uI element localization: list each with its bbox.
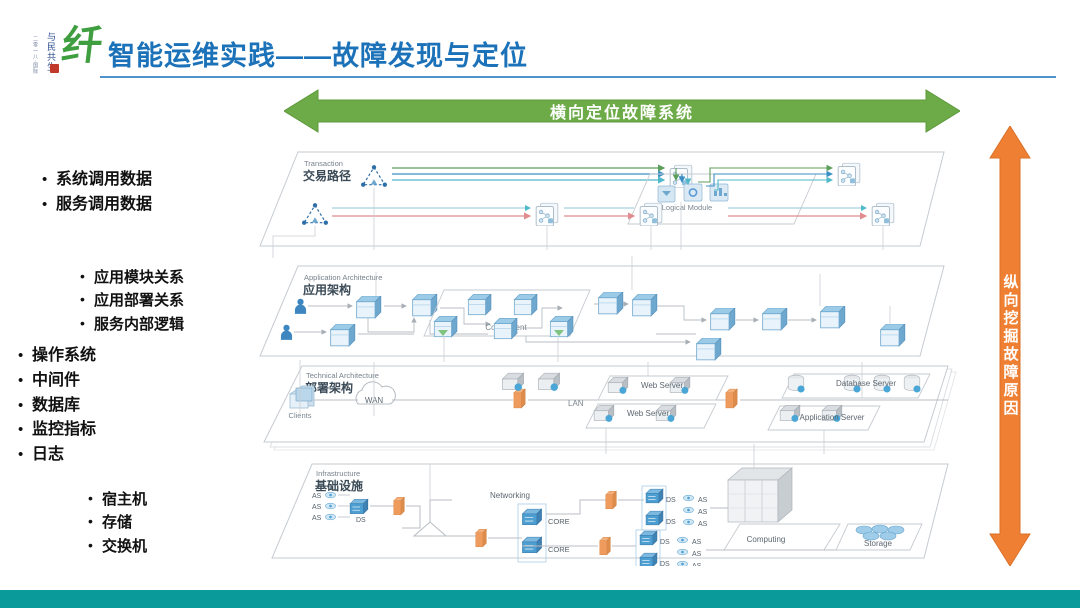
bullet-group-hardware: • 宿主机 • 存储 • 交换机 [88, 488, 147, 558]
server-icon [780, 405, 800, 422]
bullet-text: 宿主机 [102, 488, 147, 511]
database-icon [904, 375, 920, 392]
server-icon [539, 373, 560, 391]
transaction-node-icon [536, 203, 558, 226]
brand-logo: 二零一八·国际 与民共生 纤 [22, 24, 98, 80]
networking-label: Networking [490, 491, 530, 500]
app-component-icon [468, 294, 491, 314]
as-token-icon [325, 503, 335, 509]
vertical-arrow-banner: 纵向挖掘故障原因 [988, 126, 1032, 566]
firewall-icon [394, 497, 405, 515]
as-label: AS [698, 521, 708, 528]
ds-label: DS [666, 519, 676, 526]
server-icon [594, 405, 614, 422]
as-token-icon [683, 507, 693, 513]
switch-icon [350, 499, 368, 513]
bullet-glyph: • [18, 369, 32, 392]
application-server-label: Application Server [800, 413, 865, 422]
bullet-glyph: • [80, 313, 94, 335]
layer-transaction-zh: 交易路径 [303, 168, 351, 183]
app-component-icon [434, 316, 457, 336]
web-server-label-2: Web Server [627, 409, 669, 418]
ds-label: DS [356, 517, 366, 524]
bullet-glyph: • [88, 535, 102, 557]
bullet-glyph: • [18, 344, 32, 367]
ds-label: DS [660, 561, 670, 566]
vertical-arrow-label-wrap: 纵向挖掘故障原因 [988, 126, 1032, 566]
bullet-text: 应用模块关系 [94, 266, 184, 289]
bullet-glyph: • [88, 511, 102, 533]
app-component-icon [550, 316, 573, 336]
horizontal-arrow-banner: 横向定位故障系统 [284, 88, 960, 134]
database-icon [788, 375, 804, 392]
list-item: • 数据库 [18, 394, 96, 419]
app-component-icon [494, 318, 517, 338]
as-token-icon [325, 514, 335, 520]
layer-technical: Technical Architecture 部署架构 Clients WAN … [264, 360, 956, 454]
bullet-glyph: • [80, 266, 94, 288]
app-component-icon [514, 294, 537, 314]
horizontal-arrow-label: 横向定位故障系统 [284, 88, 960, 134]
bullet-glyph: • [80, 289, 94, 311]
as-label: AS [692, 551, 702, 558]
logical-module-label: Logical Module [662, 203, 712, 212]
transaction-node-icon [640, 203, 662, 226]
bullet-text: 中间件 [32, 369, 80, 394]
layer-infrastructure: Infrastructure 基础设施 AS AS AS DS [272, 444, 948, 566]
layer-infrastructure-en: Infrastructure [316, 469, 360, 478]
switch-icon [523, 537, 542, 552]
bullet-glyph: • [18, 394, 32, 417]
list-item: • 应用部署关系 [80, 289, 184, 312]
list-item: • 交换机 [88, 535, 147, 558]
ds-label: DS [666, 497, 676, 504]
bullet-group-platform: • 操作系统 • 中间件 • 数据库 • 监控指标 • 日志 [18, 344, 96, 468]
app-component-icon [413, 294, 437, 316]
as-token-icon [683, 519, 693, 525]
layer-application-en: Application Architecture [304, 273, 382, 282]
as-token-icon [683, 495, 693, 501]
list-item: • 监控指标 [18, 418, 96, 443]
architecture-diagram: Transaction 交易路径 Logical Module [258, 138, 974, 566]
database-server-label: Database Server [836, 379, 896, 388]
layer-infrastructure-zh: 基础设施 [314, 478, 363, 493]
list-item: • 系统调用数据 [42, 168, 152, 193]
bullet-group-system-data: • 系统调用数据 • 服务调用数据 [42, 168, 152, 218]
bullet-text: 交换机 [102, 535, 147, 558]
page-title: 智能运维实践——故障发现与定位 [108, 34, 528, 73]
switch-icon [640, 531, 657, 545]
computing-label: Computing [747, 535, 786, 544]
as-token-icon [677, 549, 687, 555]
firewall-icon [606, 491, 617, 509]
app-component-icon [697, 338, 721, 360]
bullet-glyph: • [88, 488, 102, 510]
bullet-text: 服务调用数据 [56, 193, 152, 218]
as-label: AS [698, 509, 708, 516]
transaction-node-icon [872, 203, 894, 226]
list-item: • 宿主机 [88, 488, 147, 511]
logo-small-text: 二零一八·国际 [32, 36, 39, 75]
switch-icon [646, 489, 663, 503]
switch-icon [523, 509, 542, 524]
layer-transaction: Transaction 交易路径 Logical Module [260, 152, 944, 258]
firewall-icon [476, 529, 487, 547]
bullet-text: 日志 [32, 443, 64, 468]
slide-root: 二零一八·国际 与民共生 纤 智能运维实践——故障发现与定位 横向定位故障系统 … [0, 0, 1080, 608]
ds-label: DS [660, 539, 670, 546]
as-label: AS [692, 539, 702, 546]
app-component-icon [821, 306, 845, 328]
as-label: AS [312, 493, 322, 500]
bullet-glyph: • [42, 168, 56, 191]
bullet-text: 服务内部逻辑 [94, 313, 184, 336]
app-component-icon [711, 308, 735, 330]
as-token-icon [677, 537, 687, 543]
lan-label: LAN [568, 399, 584, 408]
bullet-text: 数据库 [32, 394, 80, 419]
logo-calligraphy-mark: 纤 [60, 26, 105, 66]
footer-bar [0, 590, 1080, 608]
as-token-icon [677, 561, 687, 566]
layer-application-zh: 应用架构 [303, 282, 351, 297]
switch-icon [640, 553, 657, 566]
list-item: • 服务调用数据 [42, 193, 152, 218]
app-component-icon [633, 294, 657, 316]
bullet-text: 操作系统 [32, 344, 96, 369]
app-component-icon [763, 308, 787, 330]
storage-label: Storage [864, 539, 893, 548]
layer-application: Application Architecture 应用架构 [260, 256, 944, 362]
as-label: AS [312, 515, 322, 522]
layer-technical-en: Technical Architecture [306, 371, 379, 380]
architecture-diagram-svg: Transaction 交易路径 Logical Module [258, 138, 974, 566]
server-icon [608, 377, 628, 394]
vertical-arrow-label: 纵向挖掘故障原因 [1000, 274, 1021, 418]
bullet-glyph: • [18, 443, 32, 466]
as-label: AS [312, 504, 322, 511]
server-icon [503, 373, 524, 391]
list-item: • 日志 [18, 443, 96, 468]
bullet-text: 监控指标 [32, 418, 96, 443]
bullet-text: 系统调用数据 [56, 168, 152, 193]
bullet-glyph: • [42, 193, 56, 216]
app-component-icon [357, 296, 381, 318]
switch-icon [646, 511, 663, 525]
firewall-icon [600, 537, 611, 555]
firewall-icon [726, 389, 737, 408]
web-server-label-1: Web Server [641, 381, 683, 390]
list-item: • 中间件 [18, 369, 96, 394]
bullet-group-application-relations: • 应用模块关系 • 应用部署关系 • 服务内部逻辑 [80, 266, 184, 336]
title-divider [100, 76, 1056, 78]
as-token-icon [325, 492, 335, 498]
bullet-text: 存储 [102, 511, 132, 534]
list-item: • 应用模块关系 [80, 266, 184, 289]
bullet-glyph: • [18, 418, 32, 441]
logo-seal-icon [50, 64, 59, 73]
list-item: • 服务内部逻辑 [80, 313, 184, 336]
as-label: AS [698, 497, 708, 504]
app-component-icon [331, 324, 355, 346]
firewall-icon [514, 389, 525, 408]
layer-transaction-en: Transaction [304, 159, 343, 168]
list-item: • 操作系统 [18, 344, 96, 369]
app-component-icon [599, 292, 623, 314]
as-label: AS [692, 563, 702, 566]
app-component-icon [881, 324, 905, 346]
core-label-1: CORE [548, 517, 570, 526]
transaction-node-icon [838, 163, 860, 186]
bullet-text: 应用部署关系 [94, 289, 184, 312]
list-item: • 存储 [88, 511, 147, 534]
